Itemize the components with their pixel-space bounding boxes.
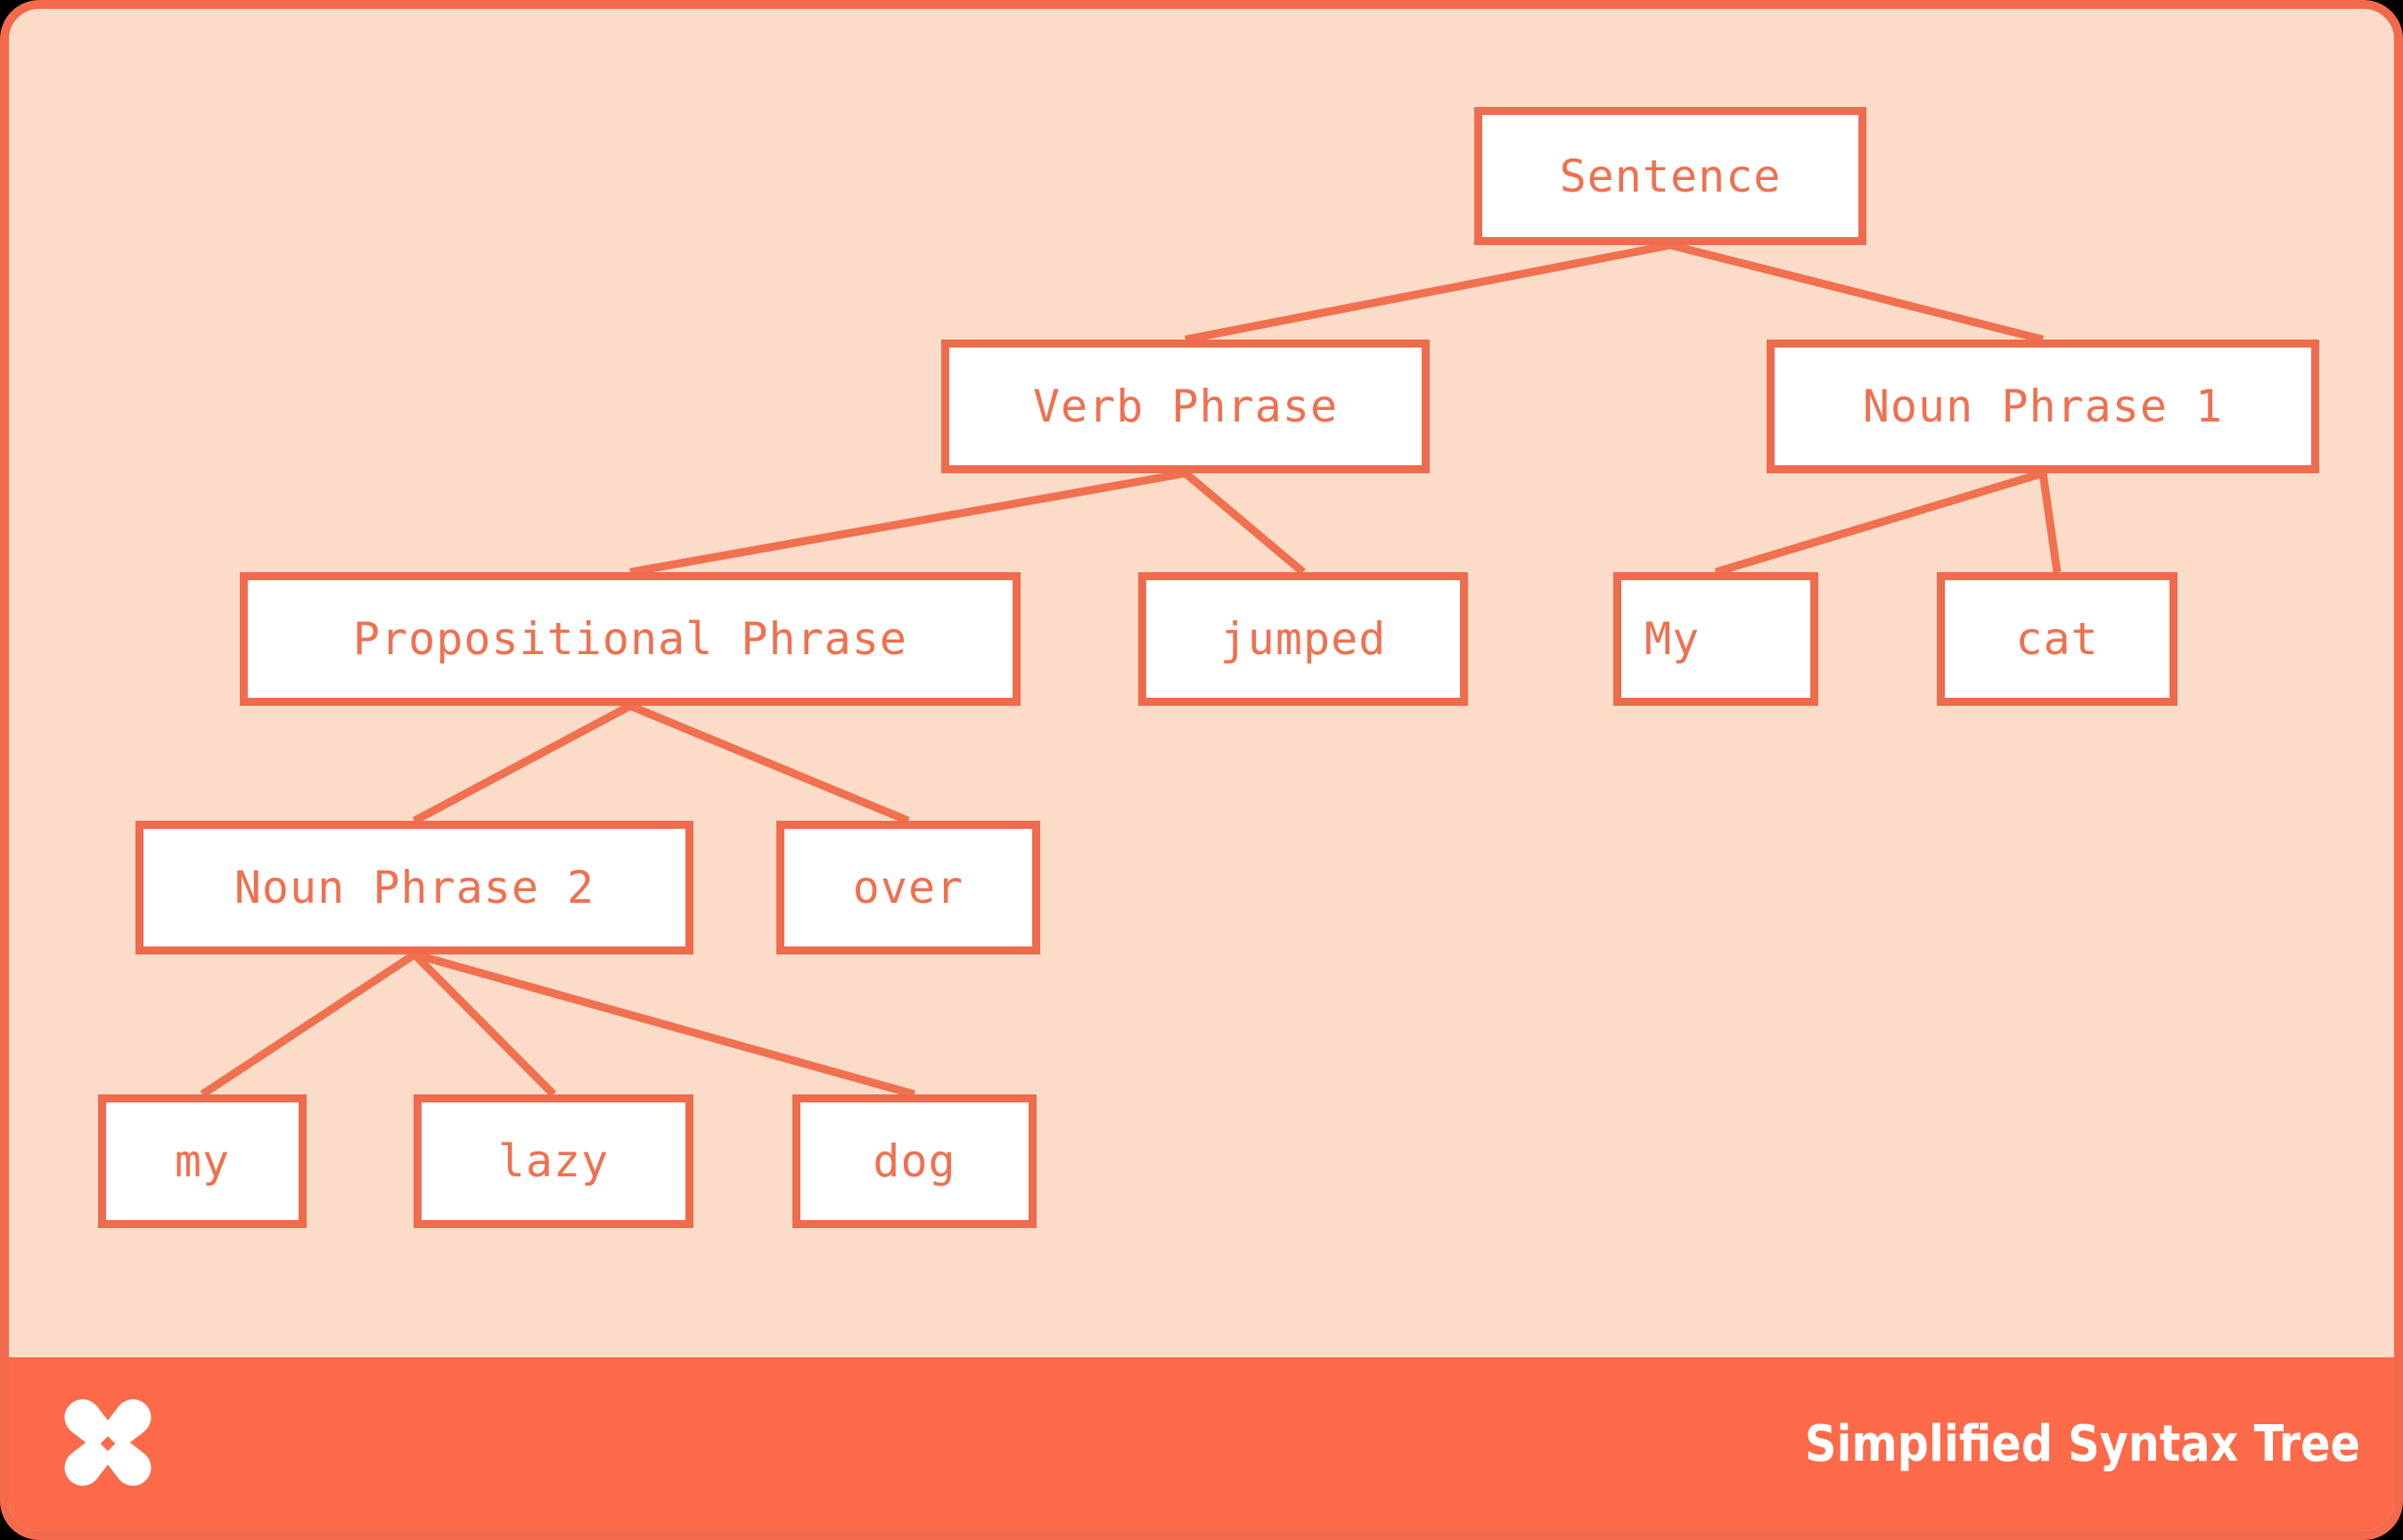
tree-node-prop_phrase[interactable]: Propositional Phrase (240, 572, 1021, 706)
tree-node-label: jumped (1220, 617, 1387, 661)
tree-node-sentence[interactable]: Sentence (1474, 107, 1866, 245)
tree-node-lazy[interactable]: lazy (414, 1094, 693, 1228)
tree-node-my_poss[interactable]: my (98, 1094, 307, 1228)
tree-node-noun_phrase_1[interactable]: Noun Phrase 1 (1767, 340, 2319, 473)
tree-node-label: Sentence (1560, 154, 1782, 199)
tree-node-label: cat (2015, 617, 2098, 661)
tree-node-noun_phrase_2[interactable]: Noun Phrase 2 (135, 821, 693, 954)
tree-edge-noun_phrase_2-to-dog (414, 954, 914, 1094)
tree-node-label: My (1644, 617, 1700, 661)
tree-node-label: over (853, 865, 964, 910)
tree-edge-noun_phrase_1-to-cat (2043, 473, 2057, 572)
tree-node-verb_phrase[interactable]: Verb Phrase (941, 340, 1430, 473)
tree-node-over[interactable]: over (776, 821, 1040, 954)
tree-edge-noun_phrase_1-to-my_det (1716, 473, 2043, 572)
tree-edge-prop_phrase-to-noun_phrase_2 (414, 706, 630, 821)
tree-edge-noun_phrase_2-to-my_poss (202, 954, 414, 1094)
tree-edge-verb_phrase-to-jumped (1185, 473, 1303, 572)
tree-node-jumped[interactable]: jumped (1138, 572, 1468, 706)
tree-edge-sentence-to-noun_phrase_1 (1670, 245, 2043, 340)
tree-node-label: Noun Phrase 1 (1863, 384, 2223, 429)
tree-node-label: dog (873, 1139, 955, 1184)
tree-node-label: Verb Phrase (1033, 384, 1338, 429)
footer-title: Simplified Syntax Tree (1805, 1415, 2360, 1473)
diagram-card: SentenceVerb PhraseNoun Phrase 1Proposit… (0, 0, 2403, 1540)
tree-node-label: lazy (498, 1139, 609, 1184)
tree-node-dog[interactable]: dog (792, 1094, 1037, 1228)
tree-node-my_det[interactable]: My (1613, 572, 1818, 706)
tree-edge-prop_phrase-to-over (630, 706, 908, 821)
footer-bar: Simplified Syntax Tree (9, 1357, 2403, 1531)
syntax-tree-canvas: SentenceVerb PhraseNoun Phrase 1Proposit… (9, 9, 2403, 1375)
tree-node-cat[interactable]: cat (1937, 572, 2177, 706)
tree-node-label: my (175, 1139, 230, 1184)
tree-edge-sentence-to-verb_phrase (1185, 245, 1670, 340)
tree-node-label: Propositional Phrase (353, 617, 907, 661)
tree-node-label: Noun Phrase 2 (234, 865, 595, 910)
tree-edge-verb_phrase-to-prop_phrase (630, 473, 1185, 572)
x-mark-logo (55, 1392, 160, 1497)
tree-edge-noun_phrase_2-to-lazy (414, 954, 554, 1094)
